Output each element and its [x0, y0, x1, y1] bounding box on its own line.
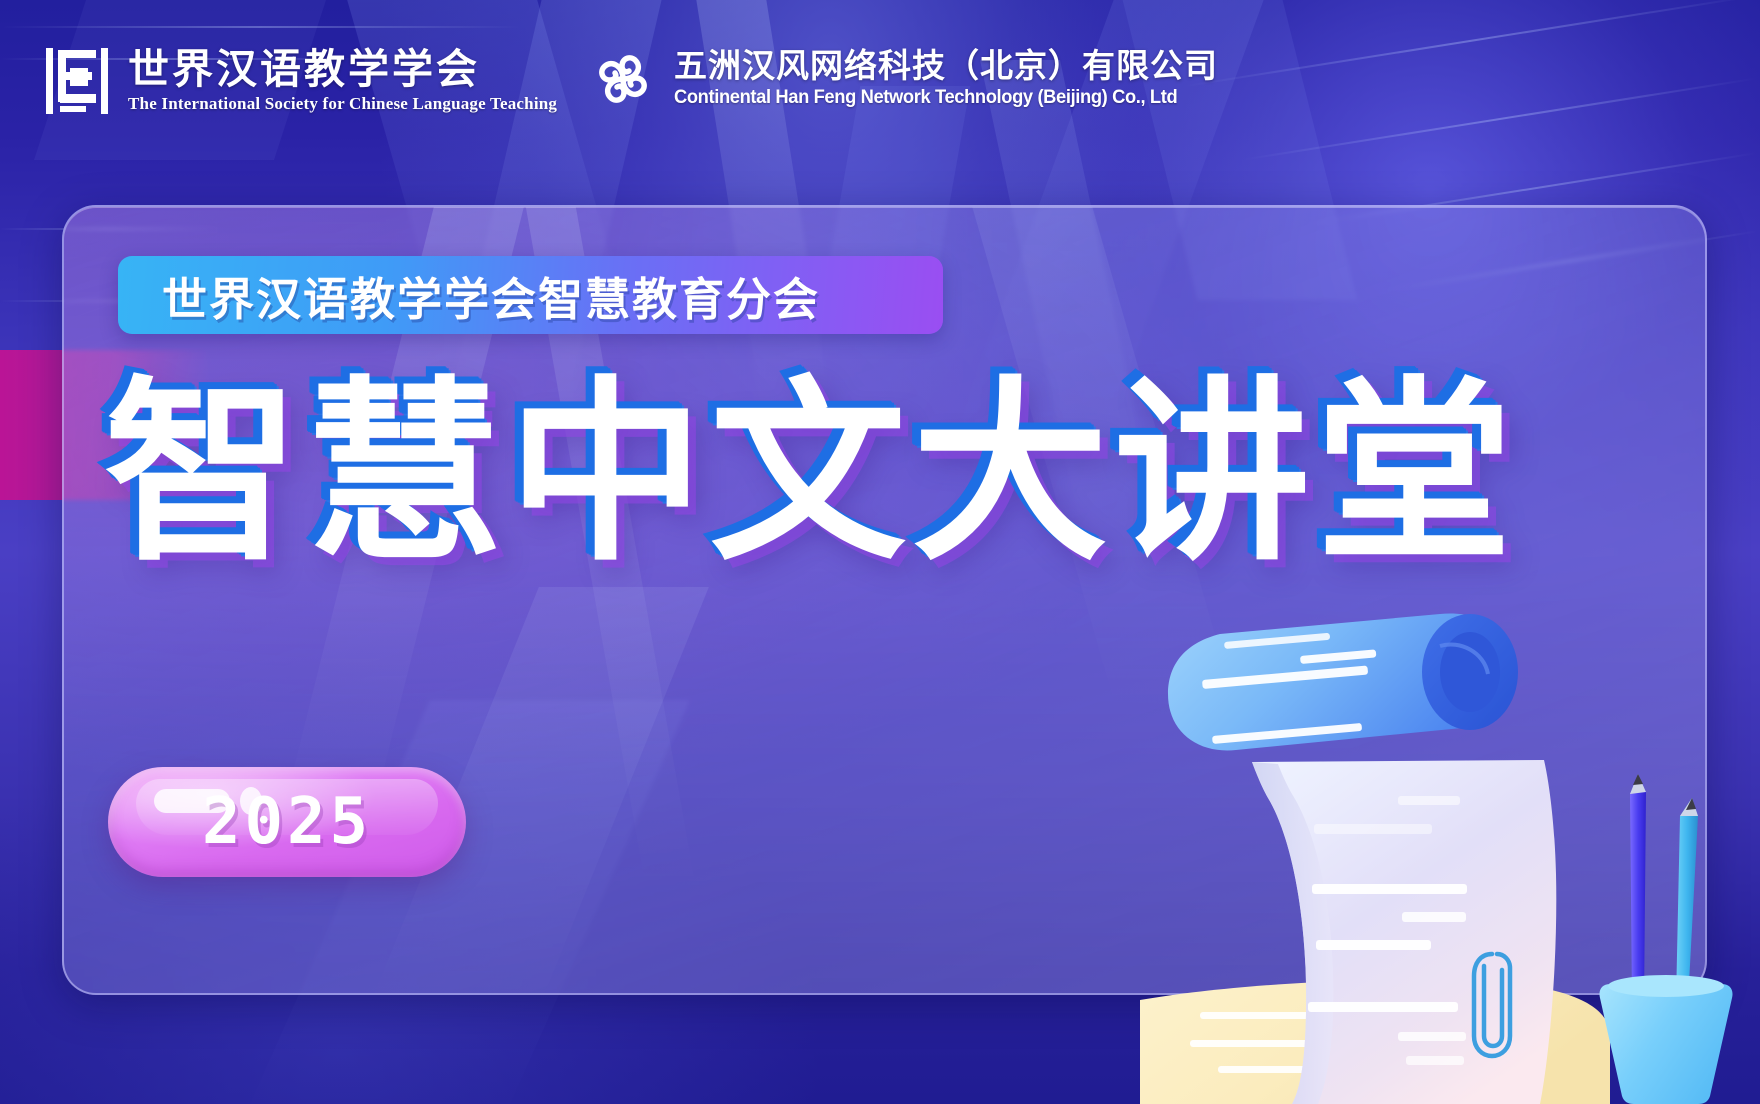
pencil-cup-icon — [1599, 774, 1732, 1104]
logo-hanfeng-name-cn: 五洲汉风网络科技（北京）有限公司 — [674, 49, 1218, 84]
han-feng-swirl-icon — [590, 46, 656, 112]
logo-hanfeng: 五洲汉风网络科技（北京）有限公司 Continental Han Feng Ne… — [590, 46, 1218, 112]
subtitle-text: 世界汉语教学学会智慧教育分会 — [162, 263, 820, 328]
logo-isclt: 世界汉语教学学会 The International Society for C… — [44, 44, 557, 118]
scroll-roll-icon — [1168, 613, 1518, 750]
pencil-indigo — [1630, 774, 1646, 1002]
scroll-illustration — [1140, 584, 1760, 1104]
subtitle-badge: 世界汉语教学学会智慧教育分会 — [118, 256, 943, 334]
page-title: 智慧中文大讲堂 — [104, 372, 1518, 576]
header-logos: 世界汉语教学学会 The International Society for C… — [0, 0, 1760, 170]
pencil-cyan — [1676, 798, 1698, 1002]
seal-script-emblem-icon — [44, 44, 110, 118]
logo-isclt-name-cn: 世界汉语教学学会 — [128, 48, 557, 91]
logo-hanfeng-name-en: Continental Han Feng Network Technology … — [674, 86, 1185, 109]
magenta-accent-band-inner — [0, 350, 64, 500]
poster-canvas: 世界汉语教学学会 The International Society for C… — [0, 0, 1760, 1104]
year-text: 2025 — [202, 785, 372, 859]
logo-isclt-name-en: The International Society for Chinese La… — [128, 94, 557, 114]
year-badge: 2025 — [108, 767, 466, 877]
